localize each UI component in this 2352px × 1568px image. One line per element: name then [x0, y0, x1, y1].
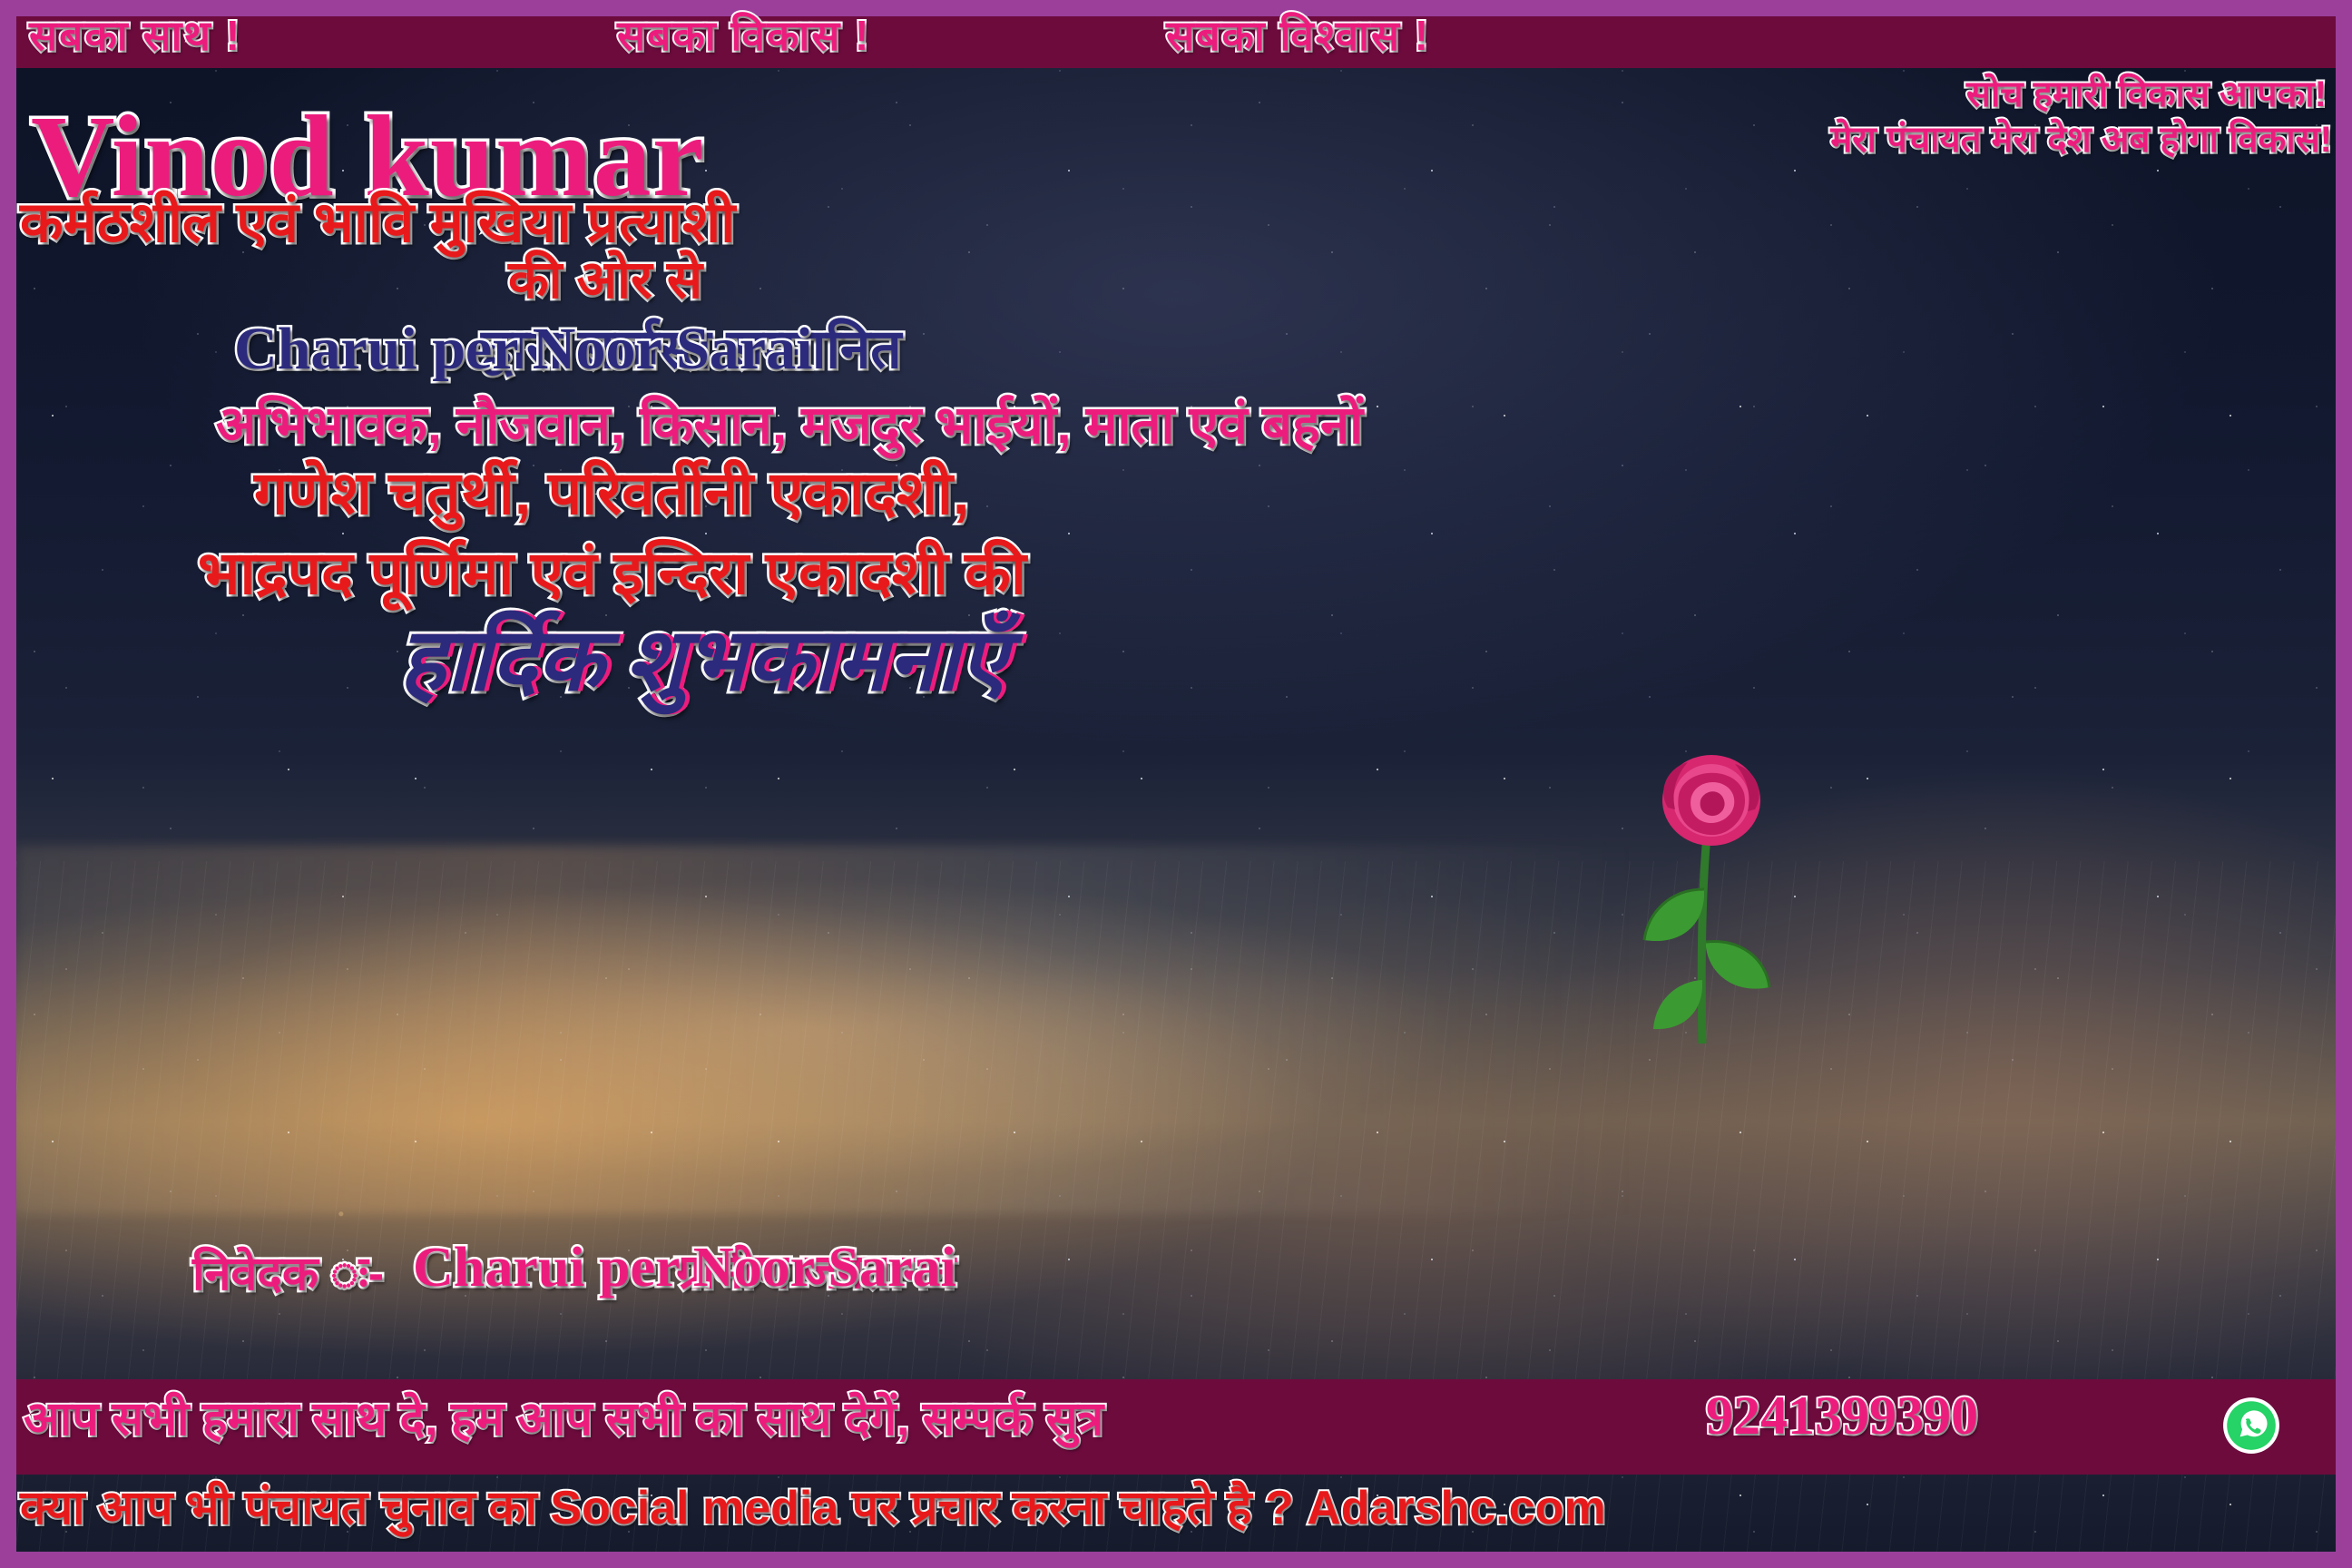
- festival-line-2: भाद्रपद पूर्णिमा एवं इन्दिरा एकादशी की: [198, 543, 1026, 603]
- contact-phone-number[interactable]: 9241399390: [1706, 1388, 1978, 1443]
- festival-line-1: गणेश चतुर्थी, परिवर्तीनी एकादशी,: [254, 463, 969, 523]
- brand-watermark-bottom: Charui per Noor Sarai: [413, 1240, 956, 1296]
- slogan-sabka-vishwas: सबका विश्वास !: [1166, 15, 1430, 56]
- candidate-role: कर्मठशील एवं भावि मुखिया प्रत्याशी: [20, 195, 735, 251]
- election-greeting-poster: सबका साथ ! सबका विकास ! सबका विश्वास ! स…: [0, 0, 2352, 1568]
- audience-line: अभिभावक, नौजवान, किसान, मजदुर भाईयों, मा…: [216, 399, 1363, 452]
- rose-flower-icon: [1624, 753, 1797, 1053]
- footer-promo-line: क्या आप भी पंचायत चुनाव का Social media …: [20, 1485, 1606, 1532]
- requester-label: निवेदक ः-: [192, 1250, 384, 1298]
- slogan-sabka-vikas: सबका विकास !: [617, 15, 870, 56]
- from-label: की ओर से: [508, 254, 702, 307]
- footer-support-line: आप सभी हमारा साथ दे, हम आप सभी का साथ दे…: [24, 1396, 1103, 1443]
- slogan-sabka-saath: सबका साथ !: [29, 15, 241, 56]
- tagline-line-1: सोच हमारी विकास आपका!: [1966, 76, 2327, 113]
- whatsapp-icon[interactable]: [2221, 1396, 2281, 1455]
- brand-watermark-top: Charui per Noor Sarai: [234, 319, 812, 379]
- tagline-line-2: मेरा पंचायत मेरा देश अब होगा विकास!: [1830, 122, 2332, 158]
- greeting-wish: हार्दिक शुभकामनाएँ: [399, 617, 1006, 704]
